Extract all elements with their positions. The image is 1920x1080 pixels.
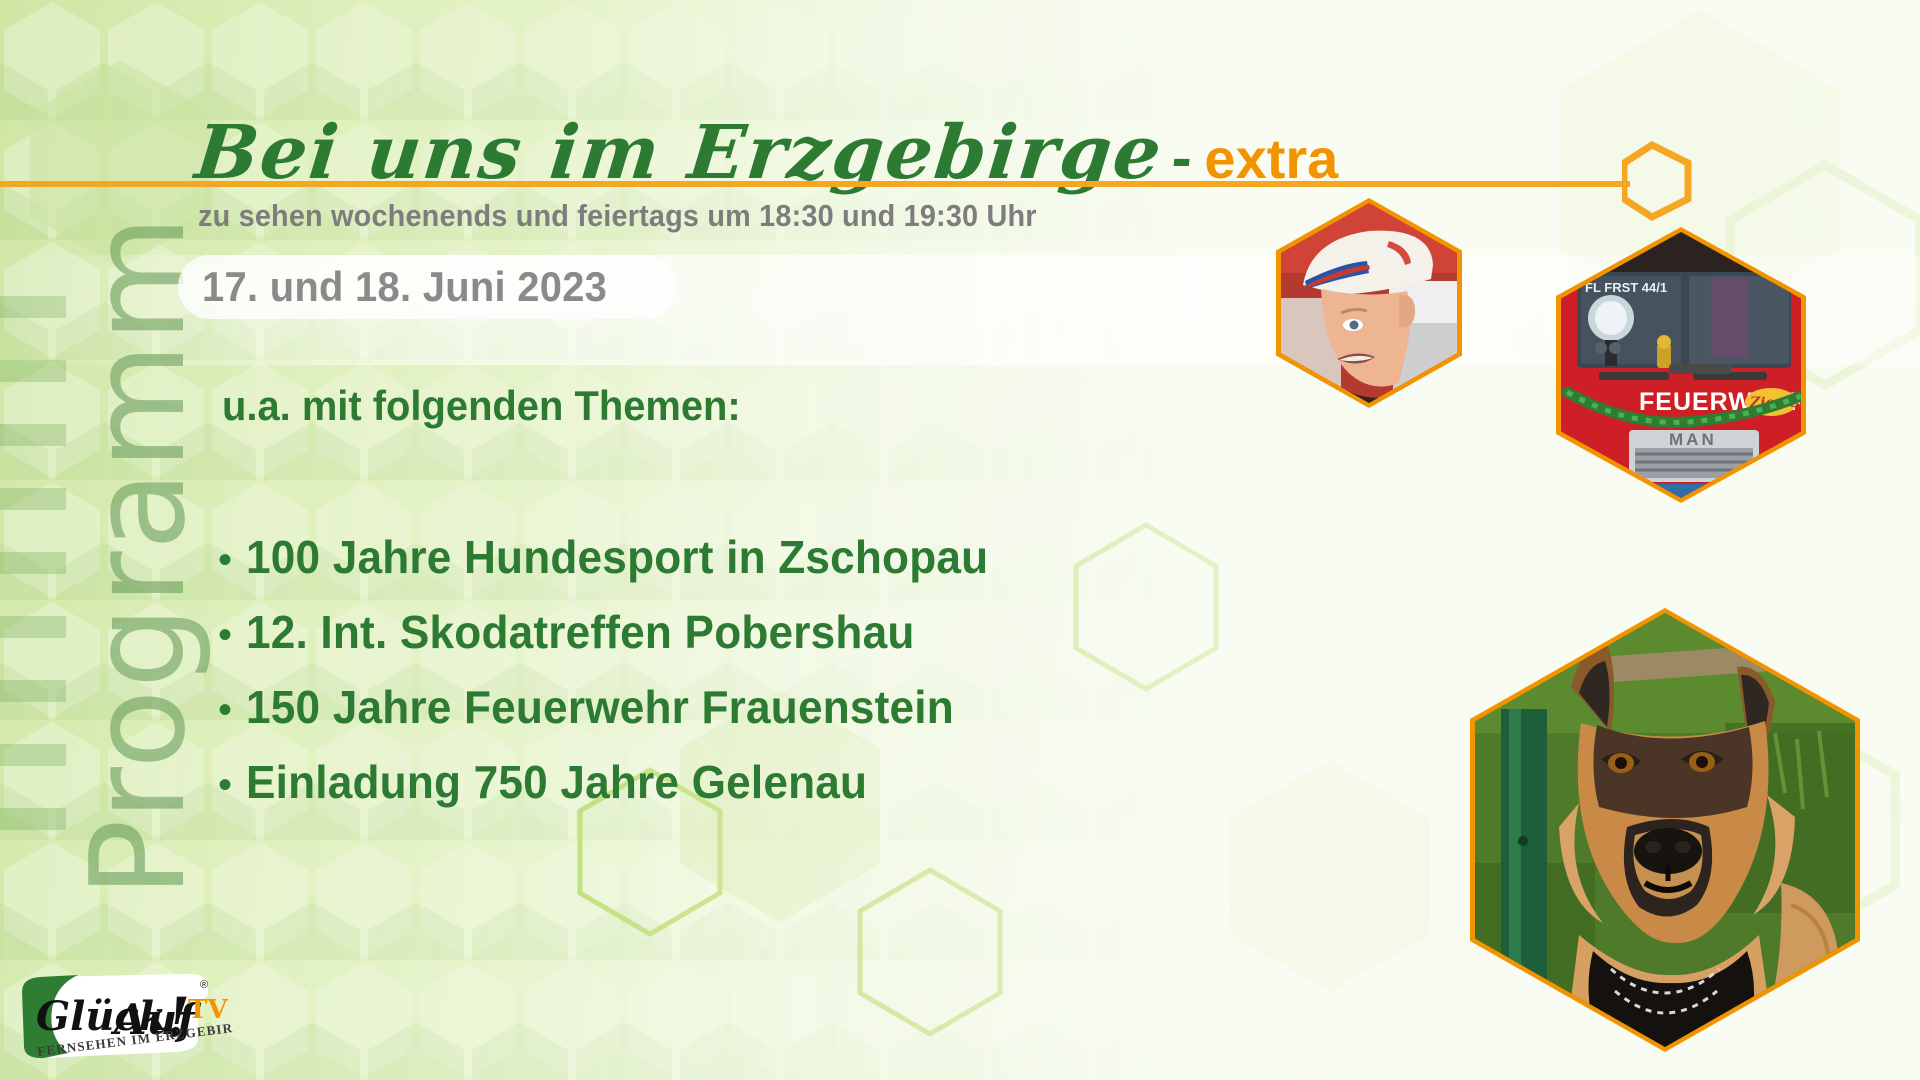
list-item-label: Einladung 750 Jahre Gelenau xyxy=(246,755,867,809)
list-item-label: 150 Jahre Feuerwehr Frauenstein xyxy=(246,680,954,734)
bullet-dot-icon: • xyxy=(218,540,232,580)
topics-list: • 100 Jahre Hundesport in Zschopau • 12.… xyxy=(218,530,1268,830)
broadcast-times-subtitle: zu sehen wochenends und feiertags um 18:… xyxy=(198,198,1037,234)
rule-end-hexagon-icon xyxy=(1622,141,1710,226)
poster-stage: Programm Bei uns im Erzgebirge-extra zu … xyxy=(0,0,1920,1080)
svg-text:FL FRST 44/1: FL FRST 44/1 xyxy=(1585,280,1667,295)
logo-registered-icon: ® xyxy=(200,979,208,991)
bullet-dot-icon: • xyxy=(218,765,232,805)
list-item: • 150 Jahre Feuerwehr Frauenstein xyxy=(218,680,1268,734)
date-badge: 17. und 18. Juni 2023 xyxy=(178,255,676,319)
hex-photo-man xyxy=(1276,198,1462,408)
date-badge-label: 17. und 18. Juni 2023 xyxy=(202,263,607,311)
bullet-dot-icon: • xyxy=(218,615,232,655)
list-item-label: 12. Int. Skodatreffen Pobershau xyxy=(246,605,915,659)
svg-text:MAN: MAN xyxy=(1669,430,1717,449)
bullet-dot-icon: • xyxy=(218,690,232,730)
hex-photo-fire-truck: FL FRST 44/1 FEUERWEHR Ziegler xyxy=(1556,227,1806,503)
list-item: • 100 Jahre Hundesport in Zschopau xyxy=(218,530,1268,584)
title-underline-rule xyxy=(0,181,1630,187)
topics-intro: u.a. mit folgenden Themen: xyxy=(222,382,741,430)
list-item: • 12. Int. Skodatreffen Pobershau xyxy=(218,605,1268,659)
list-item: • Einladung 750 Jahre Gelenau xyxy=(218,755,1268,809)
channel-logo[interactable]: Glück Auf ! TV ® FERNSEHEN IM ERZGEBIRGE xyxy=(18,972,233,1064)
list-item-label: 100 Jahre Hundesport in Zschopau xyxy=(246,530,988,584)
hex-photo-dog xyxy=(1470,608,1860,1052)
